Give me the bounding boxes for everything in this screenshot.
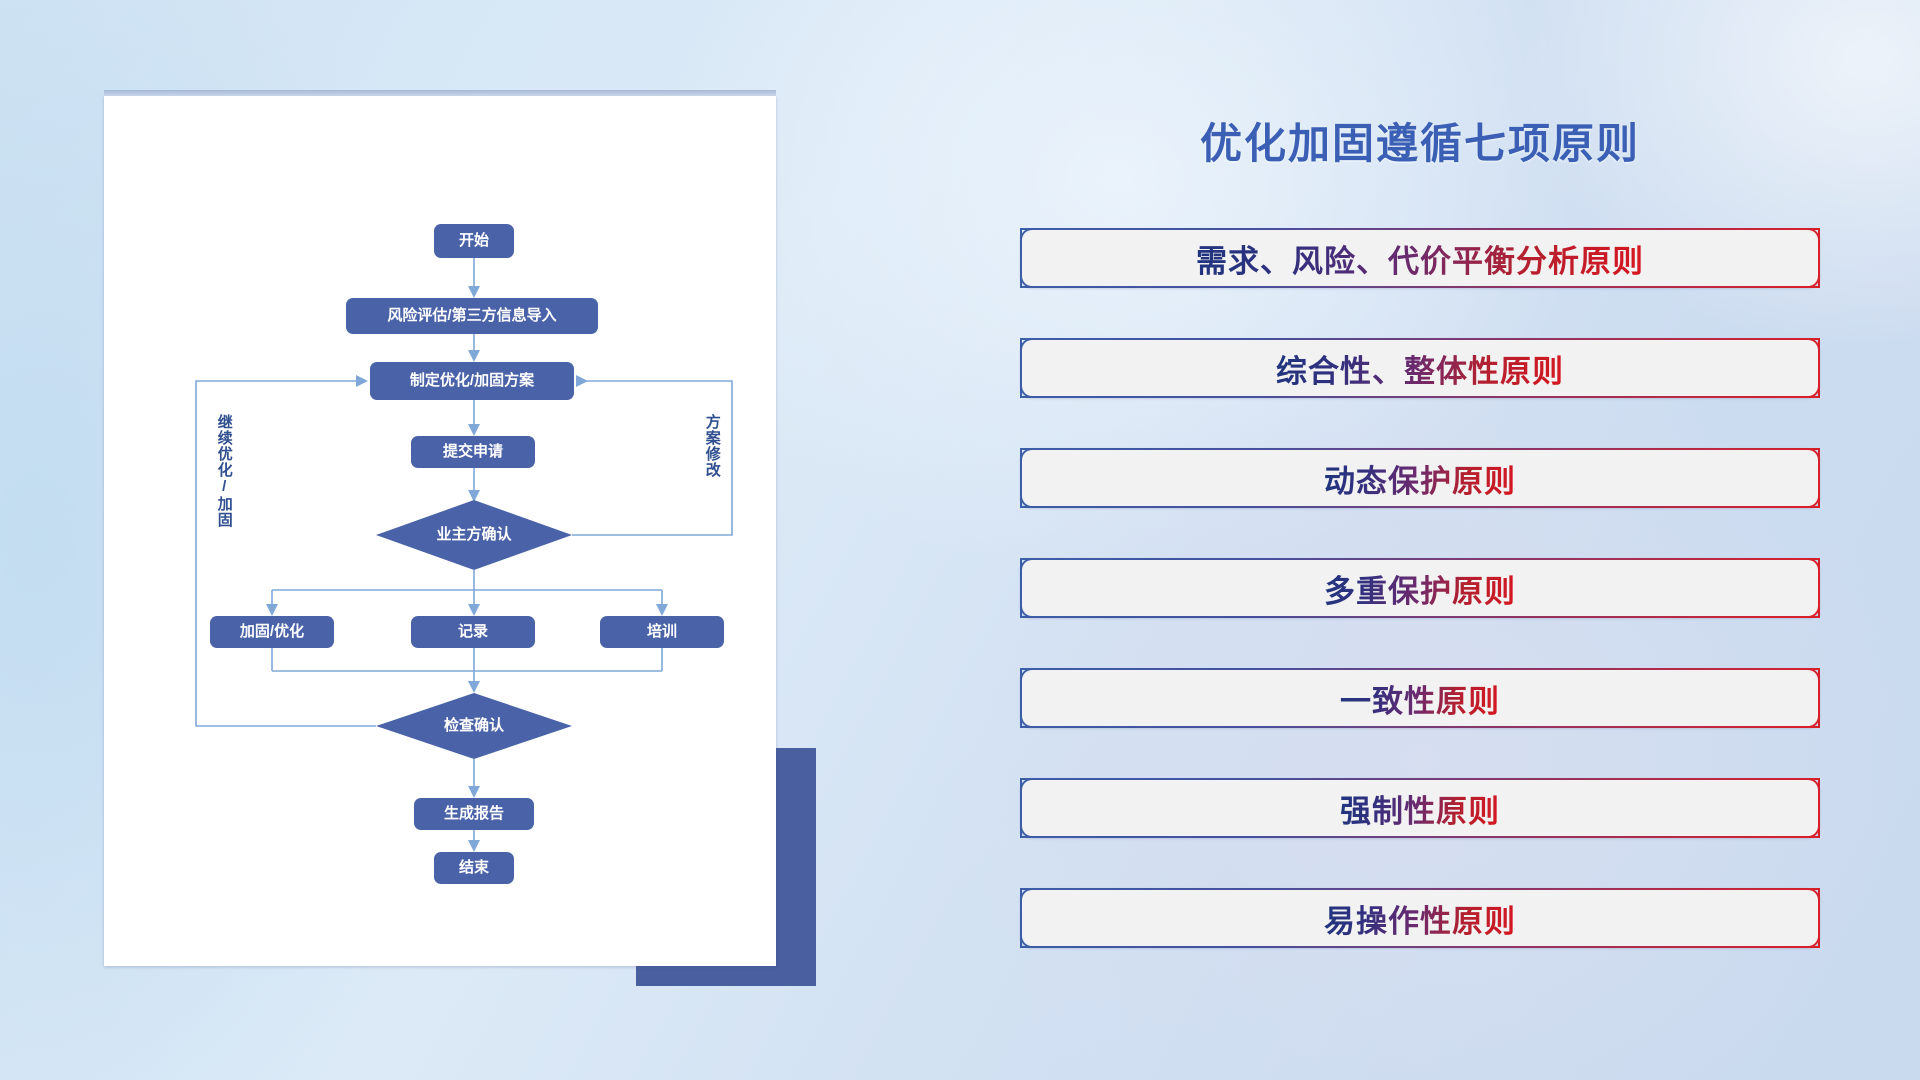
flow-node-report (414, 798, 534, 830)
principle-label: 多重保护原则 (1324, 566, 1516, 611)
principle-item[interactable]: 一致性原则 (1020, 668, 1820, 728)
principle-label: 综合性、整体性原则 (1276, 346, 1564, 391)
principles-list: 需求、风险、代价平衡分析原则综合性、整体性原则动态保护原则多重保护原则一致性原则… (1020, 228, 1820, 998)
principle-label: 一致性原则 (1340, 676, 1500, 721)
principle-label: 强制性原则 (1340, 786, 1500, 831)
flowchart-card: 开始风险评估/第三方信息导入制定优化/加固方案提交申请业主方确认加固/优化记录培… (104, 96, 776, 966)
principle-item[interactable]: 动态保护原则 (1020, 448, 1820, 508)
principle-item[interactable]: 多重保护原则 (1020, 558, 1820, 618)
flow-node-plan (370, 362, 574, 400)
flow-node-ownercfm (376, 500, 572, 570)
flow-node-risk (346, 298, 598, 334)
principle-label: 需求、风险、代价平衡分析原则 (1196, 236, 1644, 281)
principle-label: 动态保护原则 (1324, 456, 1516, 501)
principle-item[interactable]: 易操作性原则 (1020, 888, 1820, 948)
flow-side-label-left: 继续优化/加固 (216, 414, 232, 528)
principles-panel: 优化加固遵循七项原则 需求、风险、代价平衡分析原则综合性、整体性原则动态保护原则… (1020, 96, 1820, 986)
slide-canvas: 开始风险评估/第三方信息导入制定优化/加固方案提交申请业主方确认加固/优化记录培… (0, 0, 1920, 1080)
principle-item[interactable]: 综合性、整体性原则 (1020, 338, 1820, 398)
flow-node-submit (411, 436, 535, 468)
flow-side-label-right: 方案修改 (704, 414, 720, 478)
flow-node-checkcfm (376, 693, 572, 759)
principle-item[interactable]: 强制性原则 (1020, 778, 1820, 838)
flow-node-record (411, 616, 535, 648)
flow-node-training (600, 616, 724, 648)
flow-node-end (434, 852, 514, 884)
principle-item[interactable]: 需求、风险、代价平衡分析原则 (1020, 228, 1820, 288)
flow-node-start (434, 224, 514, 258)
principles-title: 优化加固遵循七项原则 (1020, 110, 1820, 171)
flow-node-reinforce (210, 616, 334, 648)
principle-label: 易操作性原则 (1324, 896, 1516, 941)
flowchart-diagram (104, 96, 776, 966)
